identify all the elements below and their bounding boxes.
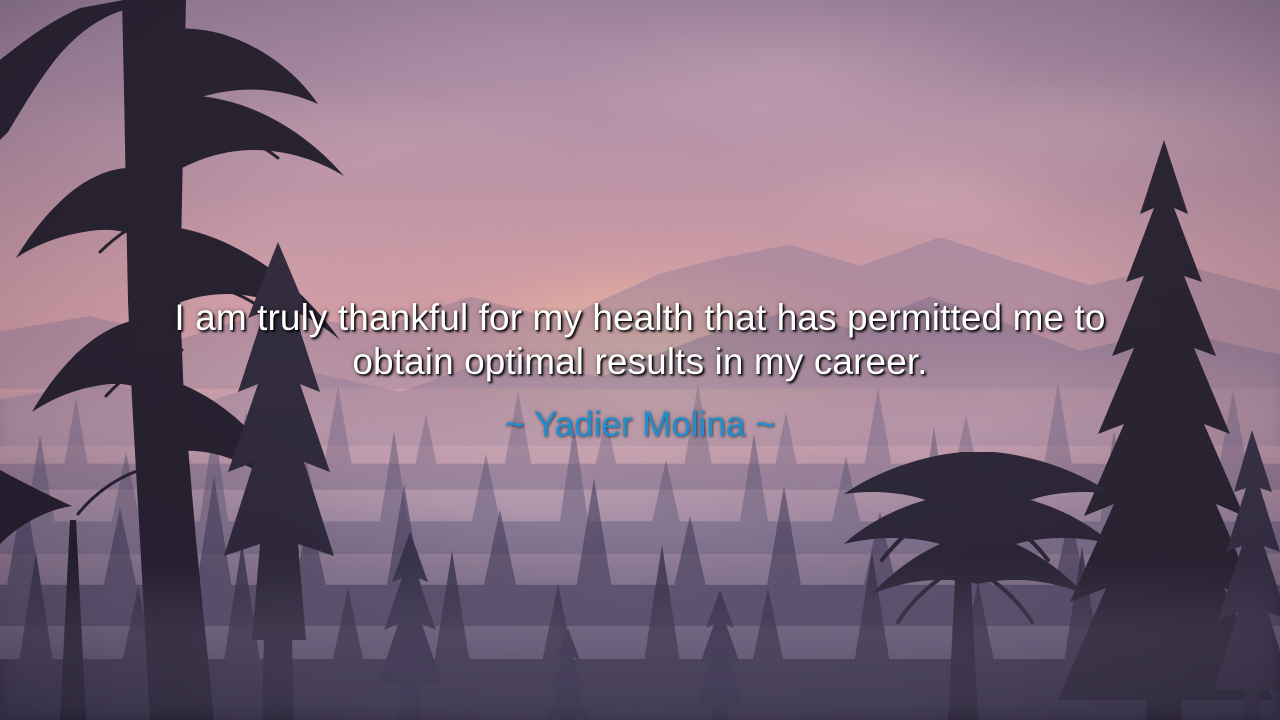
quote-author: ~ Yadier Molina ~	[504, 404, 775, 446]
quote-card: I am truly thankful for my health that h…	[0, 0, 1280, 720]
quote-text: I am truly thankful for my health that h…	[125, 296, 1155, 384]
text-overlay: I am truly thankful for my health that h…	[0, 0, 1280, 720]
